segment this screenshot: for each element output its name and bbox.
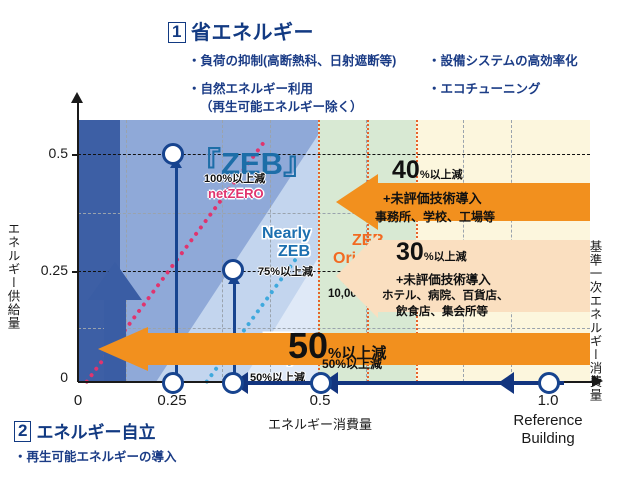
reference-building-label-l2: Building bbox=[500, 430, 596, 447]
gridline-h-major-05 bbox=[78, 154, 590, 155]
x-tick-label-025: 0.25 bbox=[142, 392, 202, 409]
callout-30-targets-l2: 飲食店、集会所等 bbox=[396, 303, 488, 319]
right-axis-title: 基準一次エネルギー消費量 bbox=[588, 240, 601, 402]
netzero-label: netZERO bbox=[208, 186, 264, 201]
callout-30-tech: +未評価技術導入 bbox=[396, 269, 491, 288]
callout-40-tech: +未評価技術導入 bbox=[383, 188, 482, 207]
footer-title-text: エネルギー自立 bbox=[36, 423, 155, 442]
axis-marker-0 bbox=[162, 372, 184, 394]
header-left-item-1: ・負荷の抑制(高断熱科、日射遮断等) bbox=[188, 50, 396, 69]
footer-title: 2エネルギー自立 bbox=[14, 418, 155, 443]
header-right-item-1: ・設備システムの高効率化 bbox=[428, 50, 578, 69]
x-axis-title: エネルギー消費量 bbox=[250, 414, 390, 433]
y-tick-label-05: 0.5 bbox=[20, 145, 68, 161]
header-title: 1省エネルギー bbox=[168, 16, 314, 45]
callout-30-pct: 30%以上減 bbox=[396, 238, 467, 267]
y-tick-mark-025 bbox=[72, 271, 78, 273]
plot-marker-zeb bbox=[162, 143, 184, 165]
zone-label-nearly-zeb-l2: ZEB bbox=[278, 244, 310, 261]
y-axis-line bbox=[77, 100, 79, 382]
footer-item-1: ・再生可能エネルギーの導入 bbox=[14, 446, 177, 465]
callout-30-suffix: %以上減 bbox=[424, 251, 467, 263]
axis-navy-arrowhead-3 bbox=[498, 372, 514, 394]
x-tick-label-10: 1.0 bbox=[524, 392, 572, 409]
callout-40-pct: 40%以上減 bbox=[392, 156, 463, 185]
x-tick-label-0: 0 bbox=[62, 392, 94, 409]
top-arrow-note: 50%以上減 bbox=[322, 355, 382, 372]
callout-40-suffix: %以上減 bbox=[420, 169, 463, 181]
y-tick-label-0: 0 bbox=[40, 369, 68, 385]
header-left-item-2: ・自然エネルギー利用 bbox=[188, 78, 313, 97]
y-axis-arrow-icon bbox=[71, 92, 83, 103]
zone-label-nearly-zeb-l1: Nearly bbox=[262, 226, 311, 243]
zone-sub-nearly-zeb: 75%以上減 bbox=[258, 263, 313, 279]
callout-40-number: 40 bbox=[392, 156, 420, 184]
header-left-item-3: （再生可能エネルギー除く） bbox=[200, 96, 363, 115]
axis-marker-025 bbox=[222, 372, 244, 394]
y-tick-label-025: 0.25 bbox=[12, 262, 68, 278]
axis-marker-10 bbox=[538, 372, 560, 394]
callout-30-targets-l1: ホテル、病院、百貨店、 bbox=[382, 287, 509, 303]
footer-number-box: 2 bbox=[14, 421, 31, 442]
reference-building-label-l1: Reference bbox=[500, 412, 596, 429]
callout-30-number: 30 bbox=[396, 238, 424, 266]
y-tick-mark-05 bbox=[72, 154, 78, 156]
x-tick-label-05: 0.5 bbox=[294, 392, 346, 409]
header-title-text: 省エネルギー bbox=[191, 22, 314, 44]
plot-marker-nearly-zeb bbox=[222, 259, 244, 281]
header-number-box: 1 bbox=[168, 22, 186, 43]
chart-plot-area: 『ZEB』 100%以上減 netZERO Nearly ZEB 75%以上減 … bbox=[78, 120, 590, 382]
axis-marker-05 bbox=[310, 372, 332, 394]
y-axis-title: エネルギー供給量 bbox=[6, 222, 19, 330]
callout-40-targets: 事務所、学校、工場等 bbox=[375, 208, 495, 225]
header-right-item-2: ・エコチューニング bbox=[428, 78, 541, 97]
axis-navy-line bbox=[232, 381, 564, 385]
zone-sub-zeb: 100%以上減 bbox=[204, 170, 265, 186]
